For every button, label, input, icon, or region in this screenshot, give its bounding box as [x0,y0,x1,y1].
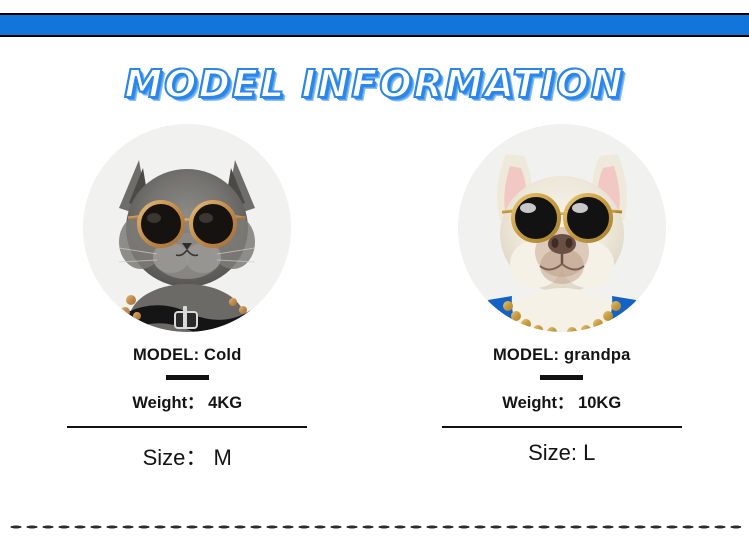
model-name-cat: MODEL: Cold [133,346,242,365]
model-information-page: MODEL INFORMATION [0,0,749,546]
page-title: MODEL INFORMATION [124,62,624,106]
model-name-dog: MODEL: grandpa [493,346,631,365]
model-size-cat: Size： M [143,440,232,472]
cat-illustration [83,124,291,332]
thin-divider-cat [67,426,307,428]
thin-divider-dog [442,426,682,428]
top-blue-banner [0,13,749,37]
thick-divider-dog [540,375,583,380]
model-card-cat: MODEL: Cold Weight： 4KG Size： M [0,124,375,472]
page-title-container: MODEL INFORMATION [0,62,749,106]
model-card-dog: MODEL: grandpa Weight： 10KG Size: L [375,124,749,472]
dog-illustration [458,124,666,332]
dog-photo [458,124,666,332]
model-weight-dog: Weight： 10KG [502,389,621,413]
bottom-dotted-divider [8,525,741,529]
model-size-dog: Size: L [528,440,595,466]
thick-divider-cat [166,375,209,380]
models-row: MODEL: Cold Weight： 4KG Size： M [0,124,749,472]
cat-photo [83,124,291,332]
model-weight-cat: Weight： 4KG [132,389,242,413]
